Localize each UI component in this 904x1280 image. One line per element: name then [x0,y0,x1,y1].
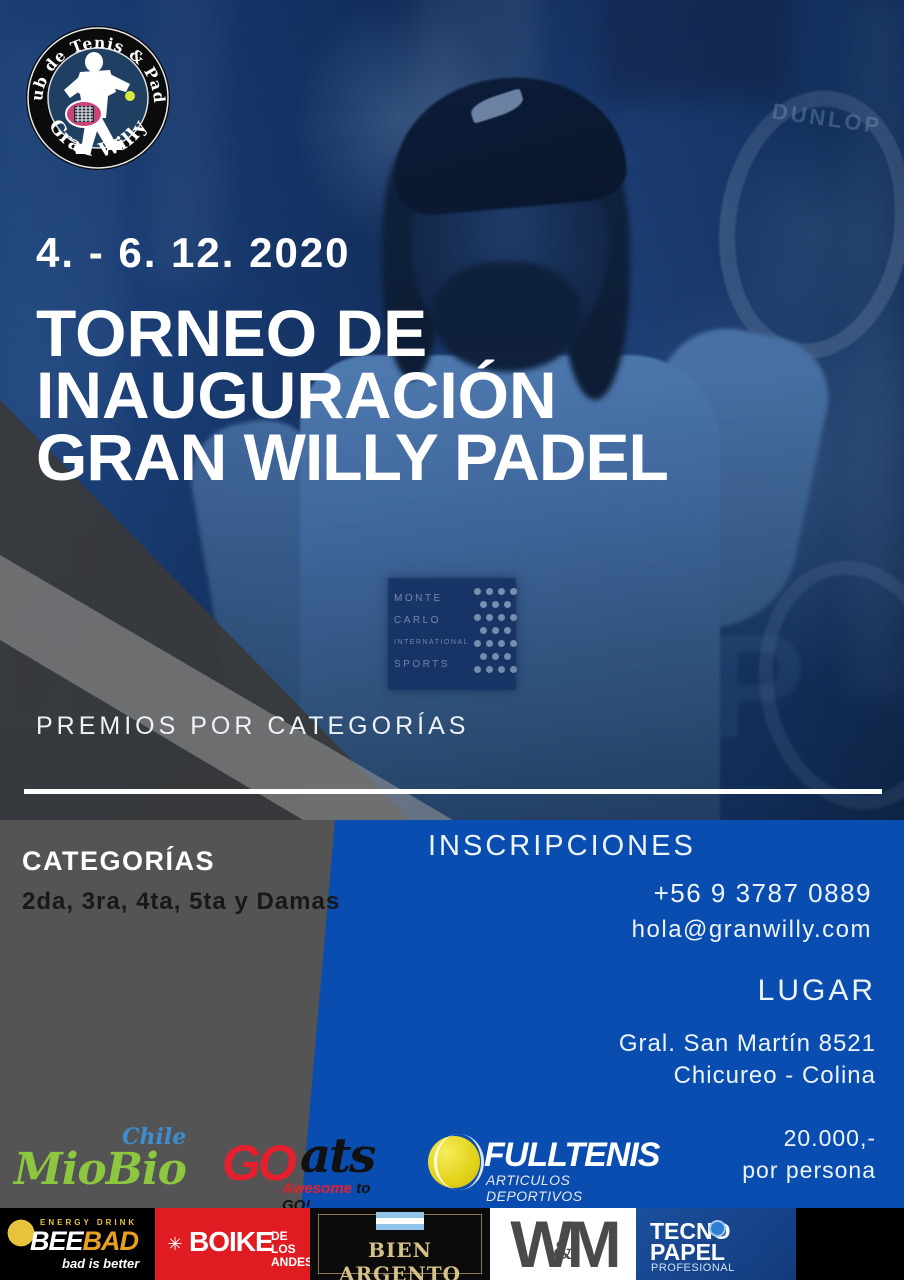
inscripciones-email[interactable]: hola@granwilly.com [0,916,872,944]
sponsor-miobio-logo: MioBio Chile [14,1126,194,1196]
premios-label: PREMIOS POR CATEGORÍAS [36,712,469,741]
sponsor-wm-logo: WM & [490,1208,636,1280]
tennis-ball-icon [428,1136,480,1188]
fulltenis-subtitle: ARTICULOS DEPORTIVOS [486,1172,648,1204]
boike-subtitle: DE LOS ANDES [271,1230,310,1269]
boike-name: BOIKE [189,1226,273,1258]
page-title: TORNEO DE INAUGURACIÓN GRAN WILLY PADEL [36,302,668,488]
club-logo: Club de Tenis & Padel Gran Willy [18,18,178,178]
inscripciones-heading: INSCRIPCIONES [428,830,696,863]
event-date: 4. - 6. 12. 2020 [36,232,351,274]
goats-name-part2: ats [300,1128,374,1184]
title-line-2: INAUGURACIÓN [36,364,668,426]
sponsor-bien-argento-logo: BIEN ARGENTO [310,1208,490,1280]
sponsor-boike-logo: ✳ BOIKE DE LOS ANDES [155,1208,310,1280]
goats-tagline-red: Awesome [282,1180,352,1197]
title-line-1: TORNEO DE [36,302,668,364]
sponsor-row-middle: MioBio Chile GO ats Awesome to GO! FULLT… [0,1112,660,1204]
sponsor-empty-slot [796,1208,904,1280]
sponsor-bar-bottom: ENERGY DRINK BEEBAD bad is better ✳ BOIK… [0,1208,904,1280]
title-line-3: GRAN WILLY PADEL [36,426,668,488]
boike-sub-line1: DE LOS [271,1230,310,1256]
sponsor-beebad-logo: ENERGY DRINK BEEBAD bad is better [0,1208,155,1280]
bien-argento-name: BIEN ARGENTO [310,1238,490,1280]
wm-ampersand: & [490,1208,636,1280]
sponsor-goats-logo: GO ats Awesome to GO! [222,1124,382,1198]
lugar-address-line-1: Gral. San Martín 8521 [0,1030,876,1058]
lugar-heading: LUGAR [0,974,876,1008]
miobio-suffix: Chile [122,1124,186,1150]
beebad-name: BEEBAD [30,1226,138,1257]
tecnopapel-line-3: PROFESIONAL [651,1262,735,1274]
beebad-name-part1: BEE [30,1226,83,1256]
beebad-name-part2: BAD [83,1226,139,1256]
sponsor-tecnopapel-logo: TECNO PAPEL PROFESIONAL [636,1208,796,1280]
beebad-tagline: bad is better [62,1256,139,1271]
miobio-name: MioBio [14,1144,186,1195]
divider-rule [24,789,882,794]
tournament-poster: D PP DUNLOP MONTE CARLO INTERNATIONAL SP… [0,0,904,1280]
lugar-address-line-2: Chicureo - Colina [0,1062,876,1090]
categorias-heading: CATEGORÍAS [22,846,215,877]
snowflake-icon: ✳ [165,1234,185,1254]
fulltenis-name: FULLTENIS [484,1136,659,1175]
inscripciones-phone[interactable]: +56 9 3787 0889 [0,878,872,909]
circle-icon [709,1220,726,1237]
boike-sub-line2: ANDES [271,1256,310,1269]
sponsor-fulltenis-logo: FULLTENIS ARTICULOS DEPORTIVOS [428,1128,648,1196]
argentina-flag-banner-icon [376,1212,424,1230]
